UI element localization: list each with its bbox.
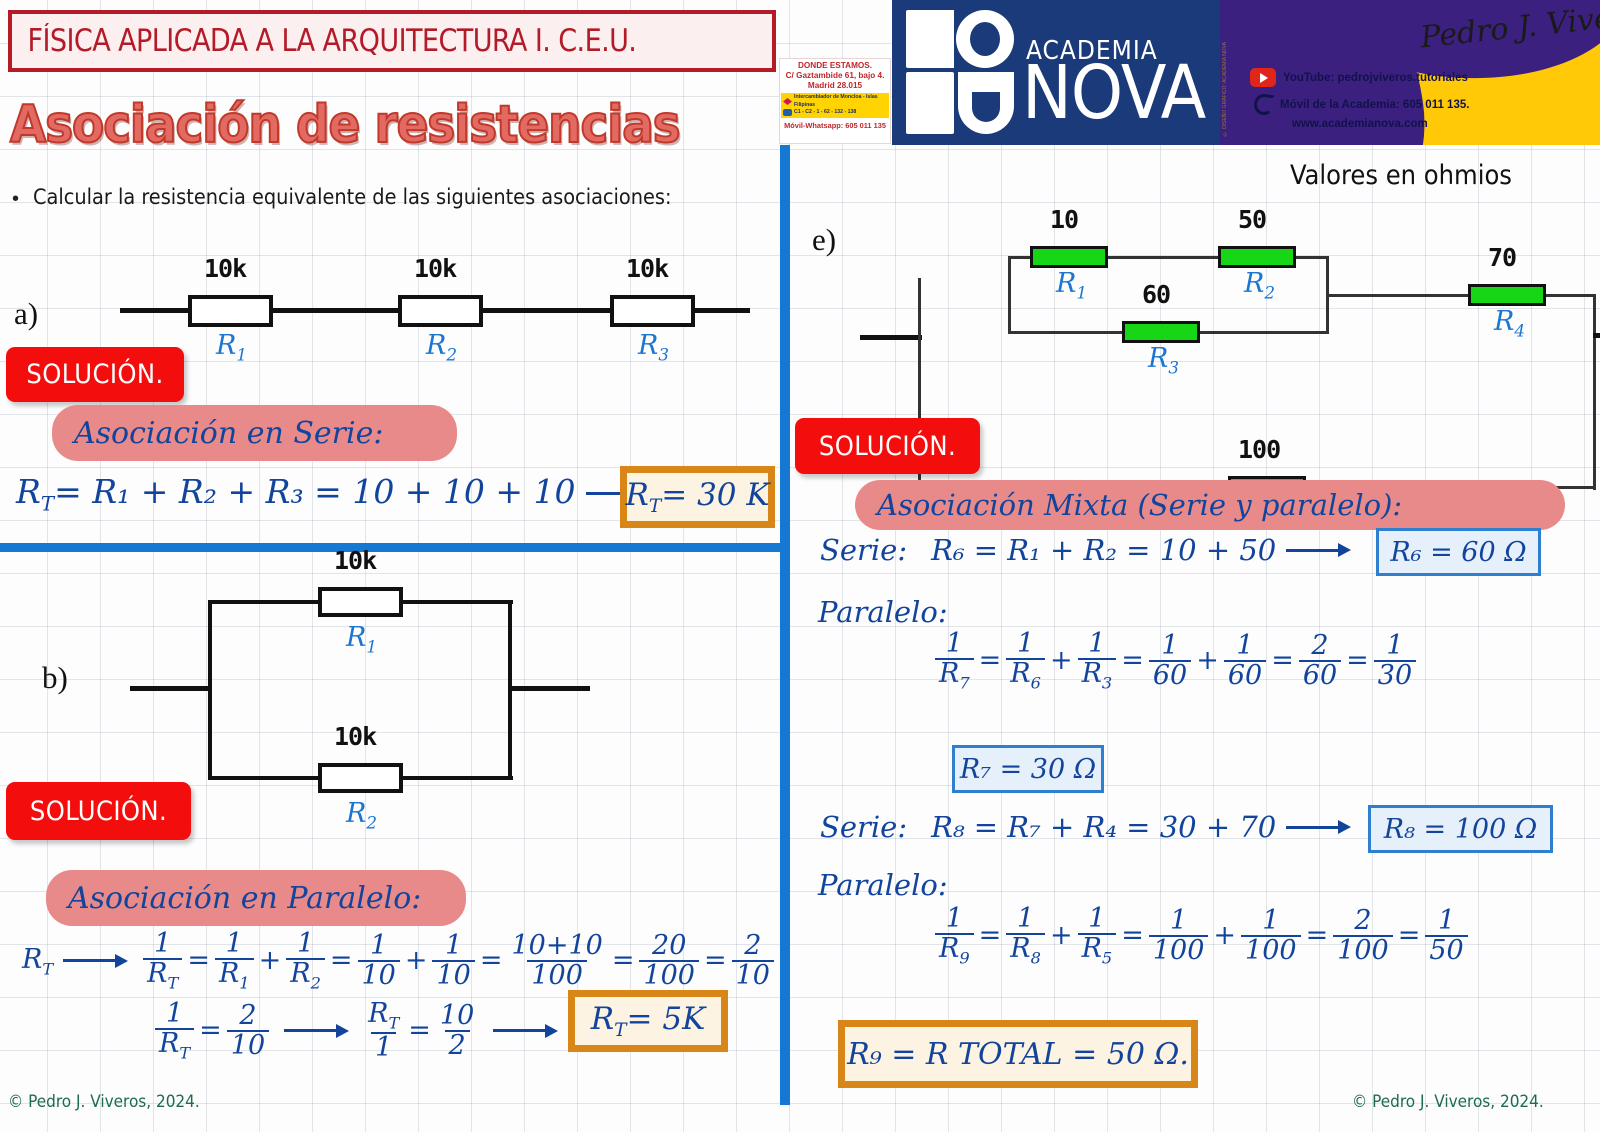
frac-b1-4: 110 bbox=[358, 932, 400, 989]
solucion-badge-e: SOLUCIÓN. bbox=[795, 418, 980, 474]
arrow-icon-b3 bbox=[493, 1024, 558, 1038]
resistor-e2-value: 50 bbox=[1238, 205, 1266, 234]
equation-b-line1: RT 1RT = 1R1 + 1R2 = 110 + 110 = 10+1010… bbox=[22, 930, 779, 991]
academy-word-nova: NOVA bbox=[1022, 58, 1205, 128]
frac-e2-1: 1R7 bbox=[935, 630, 974, 691]
heading-highlight-a: Asociación en Serie: bbox=[52, 405, 457, 461]
circuit-diagram-b: 10k 10k R1 R2 bbox=[130, 560, 590, 830]
equation-e-step1: Serie: R₆ = R₁ + R₂ = 10 + 50 bbox=[820, 533, 1361, 567]
resistor-e2-label: R2 bbox=[1244, 268, 1275, 302]
step2-kind: Paralelo: bbox=[818, 595, 948, 629]
website-text[interactable]: www.academianova.com bbox=[1292, 118, 1428, 130]
answer-box-b: RT= 5K bbox=[568, 990, 728, 1052]
arrow-icon-e1 bbox=[1286, 543, 1351, 557]
footer-right: © Pedro J. Viveros, 2024. bbox=[1352, 1092, 1544, 1112]
frac-b1-8: 210 bbox=[732, 932, 774, 989]
problem-a-letter: a) bbox=[14, 296, 38, 332]
resistor-b2-value: 10k bbox=[334, 722, 376, 751]
frac-e2-5: 160 bbox=[1224, 632, 1266, 689]
youtube-row[interactable]: YouTube: pedrojviveros.tutoriales bbox=[1250, 68, 1468, 87]
answer-a-text: RT= 30 K bbox=[625, 477, 769, 517]
frac-b2-2: 210 bbox=[227, 1002, 269, 1059]
frac-e2-3: 1R3 bbox=[1078, 630, 1117, 691]
equation-e-step4: 1R9 = 1R8 + 1R5 = 1100 + 1100 = 2100 = 1… bbox=[930, 905, 1473, 966]
answer-e-r8-text: R₈ = 100 Ω bbox=[1384, 814, 1537, 845]
resistor-a3-value: 10k bbox=[626, 254, 668, 283]
frac-e4-6: 2100 bbox=[1333, 907, 1393, 964]
frac-b1-3: 1R2 bbox=[286, 930, 325, 991]
answer-box-e-r8: R₈ = 100 Ω bbox=[1368, 805, 1553, 853]
answer-box-e-r6: R₆ = 60 Ω bbox=[1376, 528, 1541, 576]
answer-e-r6-text: R₆ = 60 Ω bbox=[1390, 537, 1526, 568]
whatsapp-text: Móvil-Whatsapp: 605 011 135 bbox=[780, 120, 890, 130]
resistor-e4-label: R4 bbox=[1494, 306, 1525, 340]
equation-e-step3: Serie: R₈ = R₇ + R₄ = 30 + 70 bbox=[820, 810, 1361, 844]
frac-e4-3: 1R5 bbox=[1078, 905, 1117, 966]
location-line-1: DONDE ESTAMOS. bbox=[780, 61, 890, 71]
instruction-row: • Calcular la resistencia equivalente de… bbox=[12, 185, 772, 210]
equation-b-lead: RT bbox=[22, 944, 53, 978]
heading-text-a: Asociación en Serie: bbox=[74, 416, 383, 451]
answer-b-text: RT= 5K bbox=[591, 1001, 705, 1041]
page-title: Asociación de resistencias bbox=[10, 95, 750, 157]
frac-b1-6: 10+10100 bbox=[507, 932, 606, 989]
frac-e2-2: 1R6 bbox=[1006, 630, 1045, 691]
resistor-e3-value: 60 bbox=[1142, 280, 1170, 309]
location-line-3: Madrid 28.015 bbox=[780, 81, 890, 91]
frac-e4-5: 1100 bbox=[1241, 907, 1301, 964]
bus-row: C1 - C2 - 1 - 62 - 132 - 138 bbox=[783, 109, 887, 117]
heading-highlight-b: Asociación en Paralelo: bbox=[46, 870, 466, 926]
frac-b1-5: 110 bbox=[432, 932, 474, 989]
ohms-note: Valores en ohmios bbox=[1290, 160, 1512, 191]
resistor-e1-label: R1 bbox=[1056, 268, 1087, 302]
equation-e-step2: 1R7 = 1R6 + 1R3 = 160 + 160 = 260 = 130 bbox=[930, 630, 1421, 691]
bus-icon bbox=[783, 109, 792, 116]
banner-credit-text: © DISEÑO GRÁFICO: ACADEMIA NOVA bbox=[1222, 42, 1228, 136]
frac-b1-2: 1R1 bbox=[215, 930, 254, 991]
frac-e4-1: 1R9 bbox=[935, 905, 974, 966]
circuit-diagram-a: 10k 10k 10k R1 R2 R3 bbox=[120, 250, 750, 350]
solucion-badge-b: SOLUCIÓN. bbox=[6, 782, 191, 840]
bullet-icon: • bbox=[12, 185, 19, 209]
mobile-row: Móvil de la Academia: 605 011 135. bbox=[1254, 94, 1469, 115]
answer-box-a: RT= 30 K bbox=[620, 466, 775, 528]
frac-b2-3: RT1 bbox=[364, 1000, 403, 1061]
heading-text-e: Asociación Mixta (Serie y paralelo): bbox=[877, 488, 1402, 522]
resistor-b2-label: R2 bbox=[346, 798, 377, 832]
arrow-icon-b2 bbox=[284, 1024, 349, 1038]
youtube-text: YouTube: pedrojviveros.tutoriales bbox=[1283, 72, 1468, 84]
resistor-e5-value: 100 bbox=[1238, 435, 1280, 464]
frac-e2-7: 130 bbox=[1374, 632, 1416, 689]
equation-a-text: RT= R₁ + R₂ + R₃ = 10 + 10 + 10 bbox=[16, 472, 576, 516]
resistor-e3-label: R3 bbox=[1148, 343, 1179, 377]
answer-box-e-r7: R₇ = 30 Ω bbox=[952, 745, 1104, 793]
step1-expr: R₆ = R₁ + R₂ = 10 + 50 bbox=[931, 533, 1276, 567]
course-title-bar: FÍSICA APLICADA A LA ARQUITECTURA I. C.E… bbox=[8, 10, 776, 72]
bus-text: C1 - C2 - 1 - 62 - 132 - 138 bbox=[794, 109, 856, 117]
frac-b2-1: 1RT bbox=[155, 1000, 194, 1061]
resistor-a1-value: 10k bbox=[204, 254, 246, 283]
equation-e-step2-kind: Paralelo: bbox=[818, 595, 948, 629]
problem-e-letter: e) bbox=[812, 222, 836, 258]
resistor-e1-value: 10 bbox=[1050, 205, 1078, 234]
nova-logo-icon bbox=[906, 10, 1016, 134]
metro-text: Intercambiador de Moncloa - Islas Filipi… bbox=[794, 94, 887, 109]
resistor-a3-label: R3 bbox=[638, 330, 669, 364]
problem-b-letter: b) bbox=[42, 660, 68, 696]
phone-icon bbox=[1253, 93, 1276, 117]
arrow-icon-e3 bbox=[1286, 820, 1351, 834]
location-line-2: C/ Gaztambide 61, bajo 4. bbox=[780, 71, 890, 81]
frac-e2-6: 260 bbox=[1299, 632, 1341, 689]
heading-text-b: Asociación en Paralelo: bbox=[68, 881, 421, 916]
footer-left: © Pedro J. Viveros, 2024. bbox=[8, 1092, 200, 1112]
resistor-a2-value: 10k bbox=[414, 254, 456, 283]
equation-e-step4-kind: Paralelo: bbox=[818, 868, 948, 902]
horizontal-divider bbox=[0, 543, 780, 552]
mobile-text: Móvil de la Academia: 605 011 135. bbox=[1280, 99, 1469, 111]
equation-a: RT= R₁ + R₂ + R₃ = 10 + 10 + 10 bbox=[16, 472, 661, 516]
frac-b2-4: 102 bbox=[436, 1002, 478, 1059]
final-answer-box: R₉ = R TOTAL = 50 Ω. bbox=[838, 1020, 1198, 1088]
step1-kind: Serie: bbox=[820, 533, 907, 567]
location-card: DONDE ESTAMOS. C/ Gaztambide 61, bajo 4.… bbox=[779, 58, 891, 144]
heading-highlight-e: Asociación Mixta (Serie y paralelo): bbox=[855, 480, 1565, 530]
frac-b1-7: 20100 bbox=[639, 932, 699, 989]
step4-kind: Paralelo: bbox=[818, 868, 948, 902]
transport-strip: Intercambiador de Moncloa - Islas Filipi… bbox=[781, 93, 889, 118]
step3-kind: Serie: bbox=[820, 810, 907, 844]
frac-e2-4: 160 bbox=[1149, 632, 1191, 689]
contact-banner-yellow: Pedro J. Viveros YouTube: pedrojviveros.… bbox=[1220, 0, 1600, 145]
frac-e4-7: 150 bbox=[1425, 907, 1467, 964]
instruction-text: Calcular la resistencia equivalente de l… bbox=[33, 185, 672, 210]
resistor-b1-value: 10k bbox=[334, 546, 376, 575]
final-answer-text: R₉ = R TOTAL = 50 Ω. bbox=[847, 1037, 1189, 1072]
vertical-divider bbox=[780, 145, 790, 1105]
resistor-b1-label: R1 bbox=[346, 622, 377, 656]
metro-row: Intercambiador de Moncloa - Islas Filipi… bbox=[783, 94, 887, 109]
equation-b-line2: 1RT = 210 RT1 = 102 bbox=[150, 1000, 568, 1061]
frac-b1-1: 1RT bbox=[143, 930, 182, 991]
frac-e4-4: 1100 bbox=[1149, 907, 1209, 964]
metro-icon bbox=[783, 98, 792, 105]
course-title-text: FÍSICA APLICADA A LA ARQUITECTURA I. C.E… bbox=[12, 23, 636, 59]
resistor-a2-label: R2 bbox=[426, 330, 457, 364]
frac-e4-2: 1R8 bbox=[1006, 905, 1045, 966]
arrow-icon-b1 bbox=[63, 954, 128, 968]
solucion-badge-a: SOLUCIÓN. bbox=[6, 347, 184, 402]
step3-expr: R₈ = R₇ + R₄ = 30 + 70 bbox=[931, 810, 1276, 844]
circuit-diagram-e: 10 50 60 70 100 R1 R2 R3 R4 R5 bbox=[860, 190, 1590, 430]
youtube-icon[interactable] bbox=[1250, 68, 1276, 87]
resistor-e4-value: 70 bbox=[1488, 243, 1516, 272]
resistor-a1-label: R1 bbox=[216, 330, 247, 364]
answer-e-r7-text: R₇ = 30 Ω bbox=[960, 754, 1096, 785]
